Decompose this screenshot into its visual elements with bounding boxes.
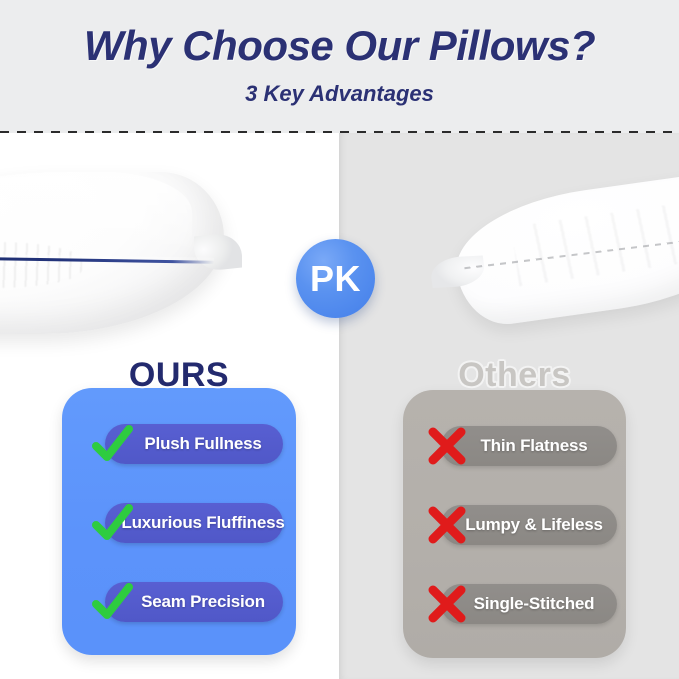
ours-feature-label: Plush Fullness [126, 434, 261, 454]
others-feature-label: Lumpy & Lifeless [455, 515, 603, 535]
others-card-title: Others [403, 356, 626, 395]
ours-feature-card: Plush Fullness Luxurious Fluffiness Seam… [62, 388, 296, 655]
others-feature-label: Single-Stitched [464, 594, 595, 614]
others-feature-label: Thin Flatness [471, 436, 588, 456]
others-feature-pill: Lumpy & Lifeless [441, 505, 617, 545]
others-feature-card: Thin Flatness Lumpy & Lifeless Single-St… [403, 390, 626, 658]
ours-pillow-image [0, 172, 224, 334]
page-title: Why Choose Our Pillows? [0, 22, 679, 70]
ours-card-title: OURS [62, 356, 296, 395]
ours-feature-label: Seam Precision [123, 592, 265, 612]
ours-feature-label: Luxurious Fluffiness [103, 513, 284, 533]
ours-feature-pill: Seam Precision [105, 582, 283, 622]
infographic-canvas: Why Choose Our Pillows? 3 Key Advantages… [0, 0, 679, 679]
others-feature-pill: Thin Flatness [441, 426, 617, 466]
ours-feature-pill: Plush Fullness [105, 424, 283, 464]
others-feature-pill: Single-Stitched [441, 584, 617, 624]
header-banner: Why Choose Our Pillows? 3 Key Advantages [0, 0, 679, 133]
pillow-highlight [0, 172, 192, 252]
page-subtitle: 3 Key Advantages [0, 81, 679, 107]
pk-badge-label: PK [310, 261, 361, 297]
ours-feature-pill: Luxurious Fluffiness [105, 503, 283, 543]
pk-versus-badge: PK [296, 239, 375, 318]
